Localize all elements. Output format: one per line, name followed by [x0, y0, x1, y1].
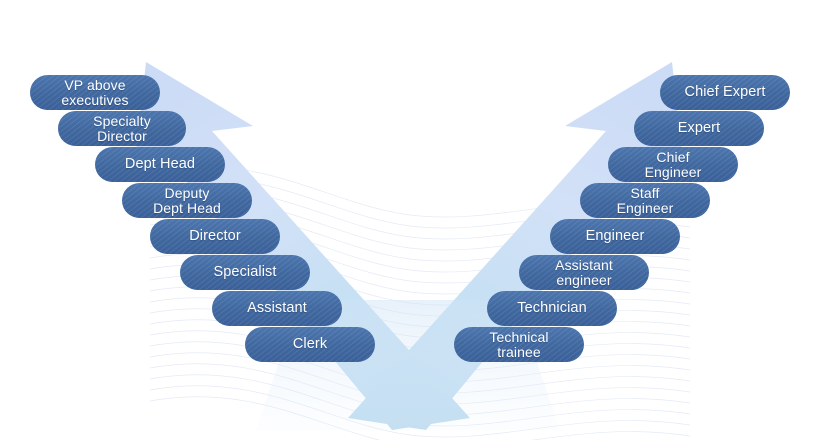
management-track-pill[interactable]: Dept Head	[95, 147, 225, 182]
management-track-label: Deputy Dept Head	[153, 186, 221, 215]
management-track-pill[interactable]: Director	[150, 219, 280, 254]
technical-track-pill[interactable]: Chief Expert	[660, 75, 790, 110]
technical-track-pill[interactable]: Staff Engineer	[580, 183, 710, 218]
management-track-pill[interactable]: Specialist	[180, 255, 310, 290]
technical-track-label: Chief Expert	[685, 85, 766, 100]
management-track-label: VP above executives	[61, 78, 128, 107]
technical-track-label: Staff Engineer	[617, 186, 674, 215]
technical-track-label: Assistant engineer	[555, 258, 613, 287]
management-track-pill[interactable]: Deputy Dept Head	[122, 183, 252, 218]
management-track-label: Specialist	[213, 265, 276, 280]
management-track-pill[interactable]: VP above executives	[30, 75, 160, 110]
technical-track-pill[interactable]: Assistant engineer	[519, 255, 649, 290]
technical-track-label: Expert	[678, 121, 721, 136]
management-track-label: Assistant	[247, 301, 307, 316]
management-track-pill[interactable]: Assistant	[212, 291, 342, 326]
management-track-label: Dept Head	[125, 157, 195, 172]
career-ladder-diagram: VP above executivesSpecialty DirectorDep…	[0, 0, 816, 443]
technical-track-pill[interactable]: Expert	[634, 111, 764, 146]
management-track-pill[interactable]: Clerk	[245, 327, 375, 362]
management-track-label: Director	[189, 229, 241, 244]
technical-track-pill[interactable]: Technical trainee	[454, 327, 584, 362]
dual-track-arrows	[0, 0, 816, 443]
technical-track-label: Chief Engineer	[645, 150, 702, 179]
technical-track-label: Engineer	[586, 229, 645, 244]
management-track-label: Clerk	[293, 337, 327, 352]
technical-track-pill[interactable]: Engineer	[550, 219, 680, 254]
technical-track-label: Technical trainee	[489, 330, 548, 359]
management-track-pill[interactable]: Specialty Director	[58, 111, 186, 146]
technical-track-pill[interactable]: Chief Engineer	[608, 147, 738, 182]
technical-track-pill[interactable]: Technician	[487, 291, 617, 326]
technical-track-label: Technician	[517, 301, 587, 316]
management-track-label: Specialty Director	[93, 114, 151, 143]
